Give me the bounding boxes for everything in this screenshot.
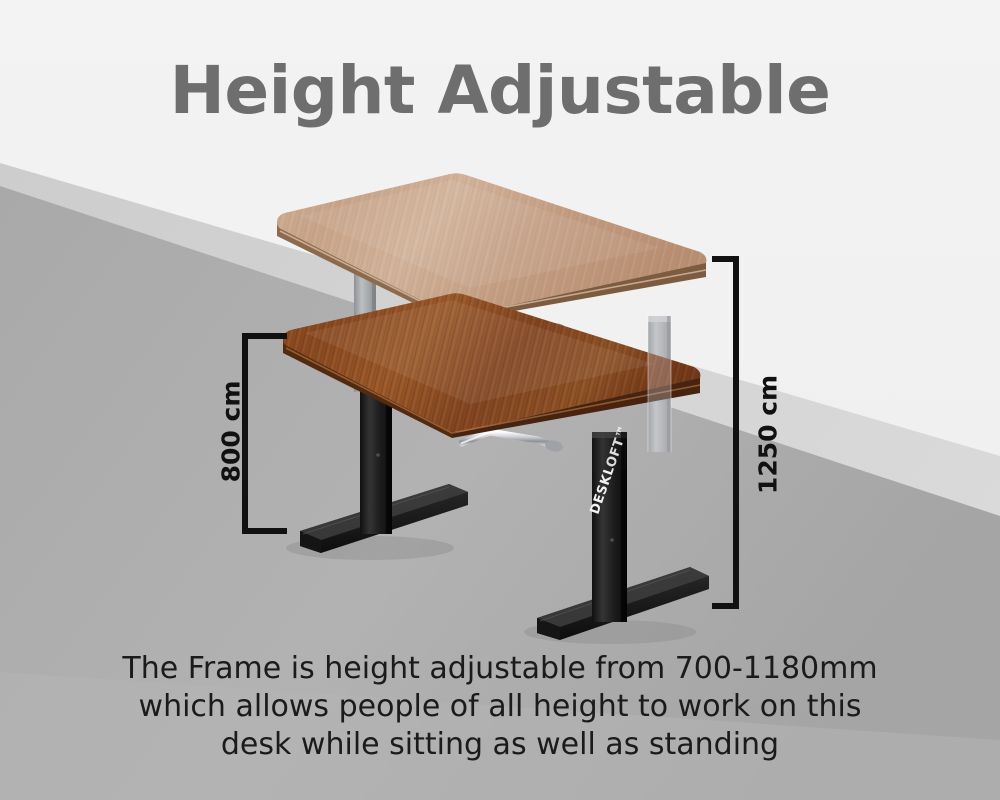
dimension-brackets — [0, 0, 1000, 800]
infographic-canvas: DESKLOFT™ — [0, 0, 1000, 800]
dimension-label-left: 800 cm — [217, 377, 246, 487]
dimension-label-right: 1250 cm — [754, 370, 783, 500]
dimension-bracket-left — [245, 336, 287, 531]
dimension-bracket-right — [712, 259, 736, 606]
